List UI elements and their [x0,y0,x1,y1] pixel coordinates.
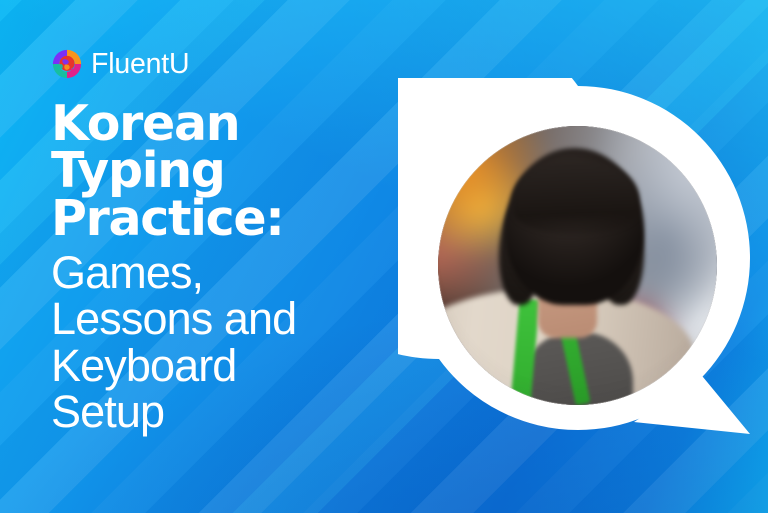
title-line-3: Practice: [51,195,411,242]
subtitle-line-3: Keyboard [51,343,411,389]
photo-stage [438,126,717,405]
title-line-1: Korean [51,100,411,147]
brand-wordmark: FluentU [91,50,189,79]
title-line-2: Typing [51,147,411,194]
subtitle-line-1: Games, [51,250,411,296]
subtitle-line-4: Setup [51,389,411,435]
fluentu-globe-icon [52,49,82,79]
blog-header-banner: FluentU Korean Typing Practice: Games, L… [0,0,768,513]
headline-group: Korean Typing Practice: Games, Lessons a… [51,100,411,435]
photo-vignette [438,126,717,405]
avatar-photo [438,126,717,405]
page-subtitle: Games, Lessons and Keyboard Setup [51,250,411,435]
brand-logo[interactable]: FluentU [52,49,189,79]
subtitle-line-2: Lessons and [51,296,411,342]
page-title: Korean Typing Practice: [51,100,411,242]
